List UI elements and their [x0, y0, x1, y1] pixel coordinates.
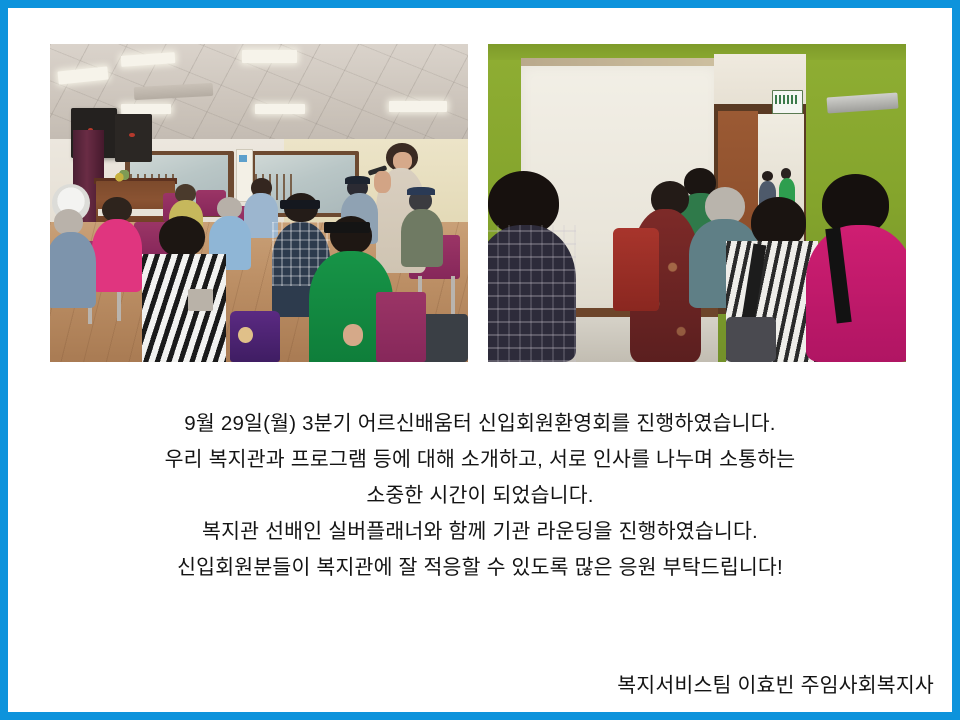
photo-group-session [50, 44, 468, 362]
author-signature: 복지서비스팀 이효빈 주임사회복지사 [617, 668, 934, 698]
body-line-3: 소중한 시간이 되었습니다. [8, 478, 952, 514]
speaker [115, 114, 153, 162]
chair [376, 292, 426, 362]
pattern-overlay [488, 225, 576, 362]
body-line-4: 복지관 선배인 실버플래너와 함께 기관 라운딩을 진행하였습니다. [8, 514, 952, 550]
attendee-body [92, 219, 142, 292]
flower-vase [113, 170, 130, 183]
bag-charm [238, 327, 253, 343]
attendee-head [54, 209, 83, 234]
attendee-visor [324, 222, 370, 233]
presenter-face [393, 152, 412, 169]
handbag [726, 317, 776, 362]
notice-mark [239, 155, 247, 161]
red-backpack [613, 228, 659, 311]
photo-facility-tour [488, 44, 906, 362]
attendee-cap [345, 176, 370, 184]
attendee-visor [280, 200, 320, 209]
attendee-hand [343, 324, 364, 346]
body-line-2: 우리 복지관과 프로그램 등에 대해 소개하고, 서로 인사를 나누며 소통하는 [8, 442, 952, 478]
ceiling-lamp [255, 104, 305, 114]
ceiling-lamp [389, 101, 448, 112]
attendee-cap [407, 187, 434, 195]
photo-row [8, 8, 952, 364]
attendee-head [159, 216, 205, 257]
participant-head [751, 197, 805, 248]
shoulder-bag [188, 289, 213, 311]
body-line-5: 신입회원분들이 복지관에 잘 적응할 수 있도록 많은 응원 부탁드립니다! [8, 550, 952, 586]
presenter-arm [374, 171, 391, 193]
post-page: 9월 29일(월) 3분기 어르신배움터 신입회원환영회를 진행하였습니다. 우… [0, 0, 960, 720]
participant-body-magenta [806, 225, 906, 362]
post-body-text: 9월 29일(월) 3분기 어르신배움터 신입회원환영회를 진행하였습니다. 우… [8, 406, 952, 586]
chair-leg [451, 276, 455, 314]
visitor-head [762, 171, 773, 181]
attendee-body [401, 209, 443, 266]
ceiling-lamp [242, 50, 296, 63]
exit-sign-text [775, 95, 798, 105]
ceiling-lamp [121, 104, 171, 114]
attendee-body [50, 232, 96, 308]
body-line-1: 9월 29일(월) 3분기 어르신배움터 신입회원환영회를 진행하였습니다. [8, 406, 952, 442]
